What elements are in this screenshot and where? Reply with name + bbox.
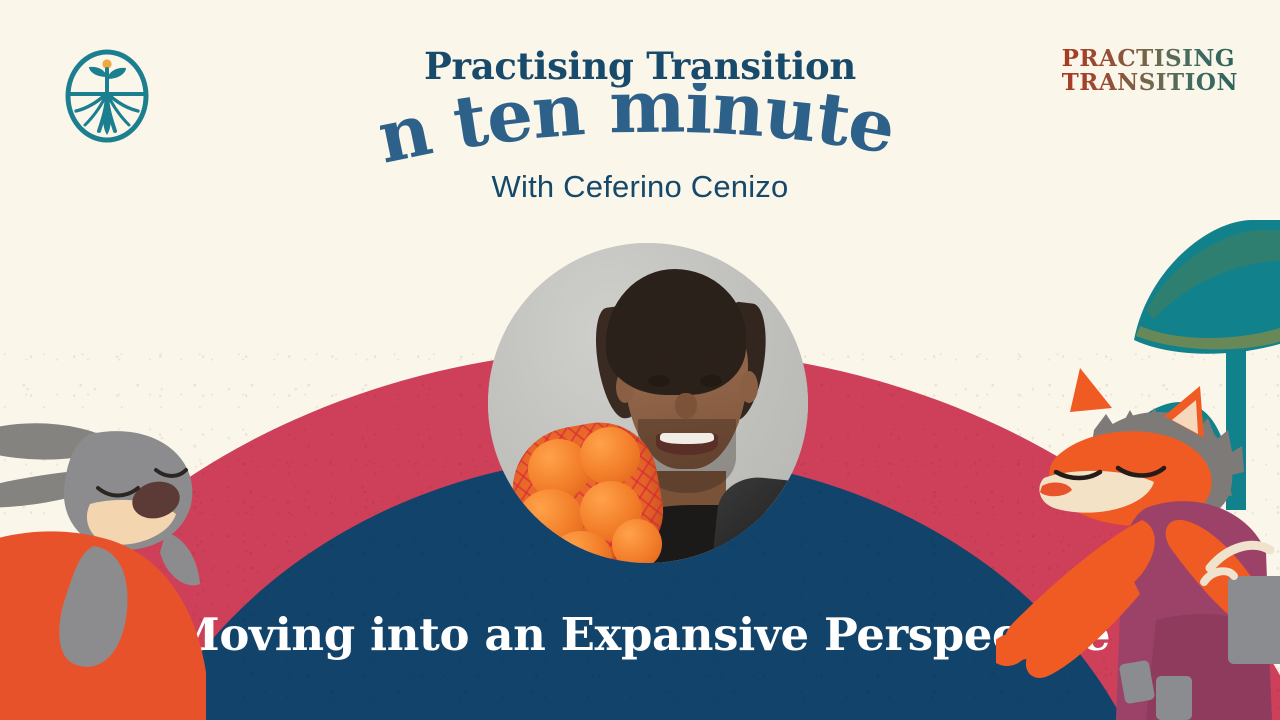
- episode-format-title: In ten minutes: [0, 89, 1280, 163]
- svg-text:In ten minutes: In ten minutes: [380, 83, 900, 180]
- wordmark-line-2: TRANSITION: [1062, 71, 1238, 95]
- host-portrait-avatar: [488, 243, 808, 563]
- header-block: Practising Transition In ten minutes Wit…: [0, 0, 1280, 205]
- slide-canvas: PRACTISING TRANSITION Practising Transit…: [0, 0, 1280, 720]
- wordmark-line-1: PRACTISING: [1062, 47, 1238, 71]
- seedling-roots-circle-logo: [63, 47, 151, 145]
- practising-transition-wordmark: PRACTISING TRANSITION: [1062, 47, 1238, 95]
- sleeping-hare-illustration: [0, 372, 270, 720]
- sleeping-fox-illustration: [996, 190, 1280, 720]
